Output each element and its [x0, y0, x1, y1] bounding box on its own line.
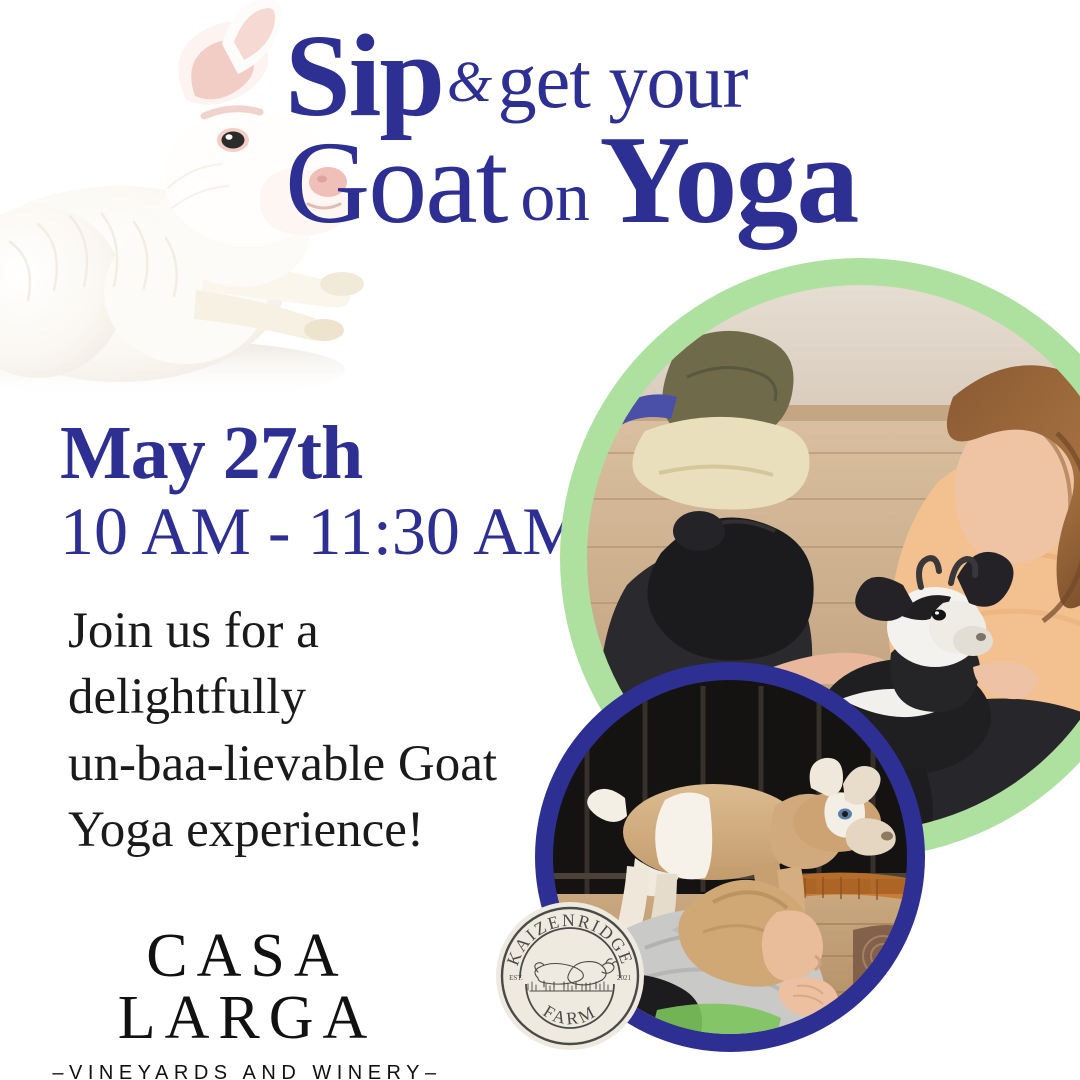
poster-canvas: Sip&get your GoatonYoga May 27th 10 AM -… [0, 0, 1080, 1080]
description-line-3: un-baa-lievable Goat [68, 731, 538, 797]
winery-name: CASA LARGA [42, 925, 452, 1049]
headline-word-on: on [506, 159, 599, 236]
headline: Sip&get your GoatonYoga [285, 22, 1075, 238]
headline-word-yoga: Yoga [599, 111, 857, 250]
casa-larga-logo: CASA LARGA –VINEYARDS AND WINERY– [42, 925, 452, 1080]
description-line-1: Join us for a [68, 598, 538, 664]
event-description: Join us for a delightfully un-baa-lievab… [68, 598, 538, 863]
event-time: 10 AM - 11:30 AM [60, 495, 583, 567]
headline-line-2: GoatonYoga [285, 123, 1075, 239]
kaizenridge-farm-stamp: KAIZENRIDGE FARM EST. 2021 [494, 900, 646, 1052]
event-date: May 27th [60, 415, 583, 493]
event-date-time-block: May 27th 10 AM - 11:30 AM [60, 415, 583, 567]
stamp-est-year: 2021 [617, 974, 632, 982]
headline-word-goat: Goat [285, 117, 506, 248]
winery-tagline: –VINEYARDS AND WINERY– [42, 1063, 452, 1080]
headline-ampersand: & [443, 49, 498, 114]
description-line-4: Yoga experience! [68, 797, 538, 863]
description-line-2: delightfully [68, 664, 538, 730]
stamp-est-label: EST. [509, 974, 523, 982]
